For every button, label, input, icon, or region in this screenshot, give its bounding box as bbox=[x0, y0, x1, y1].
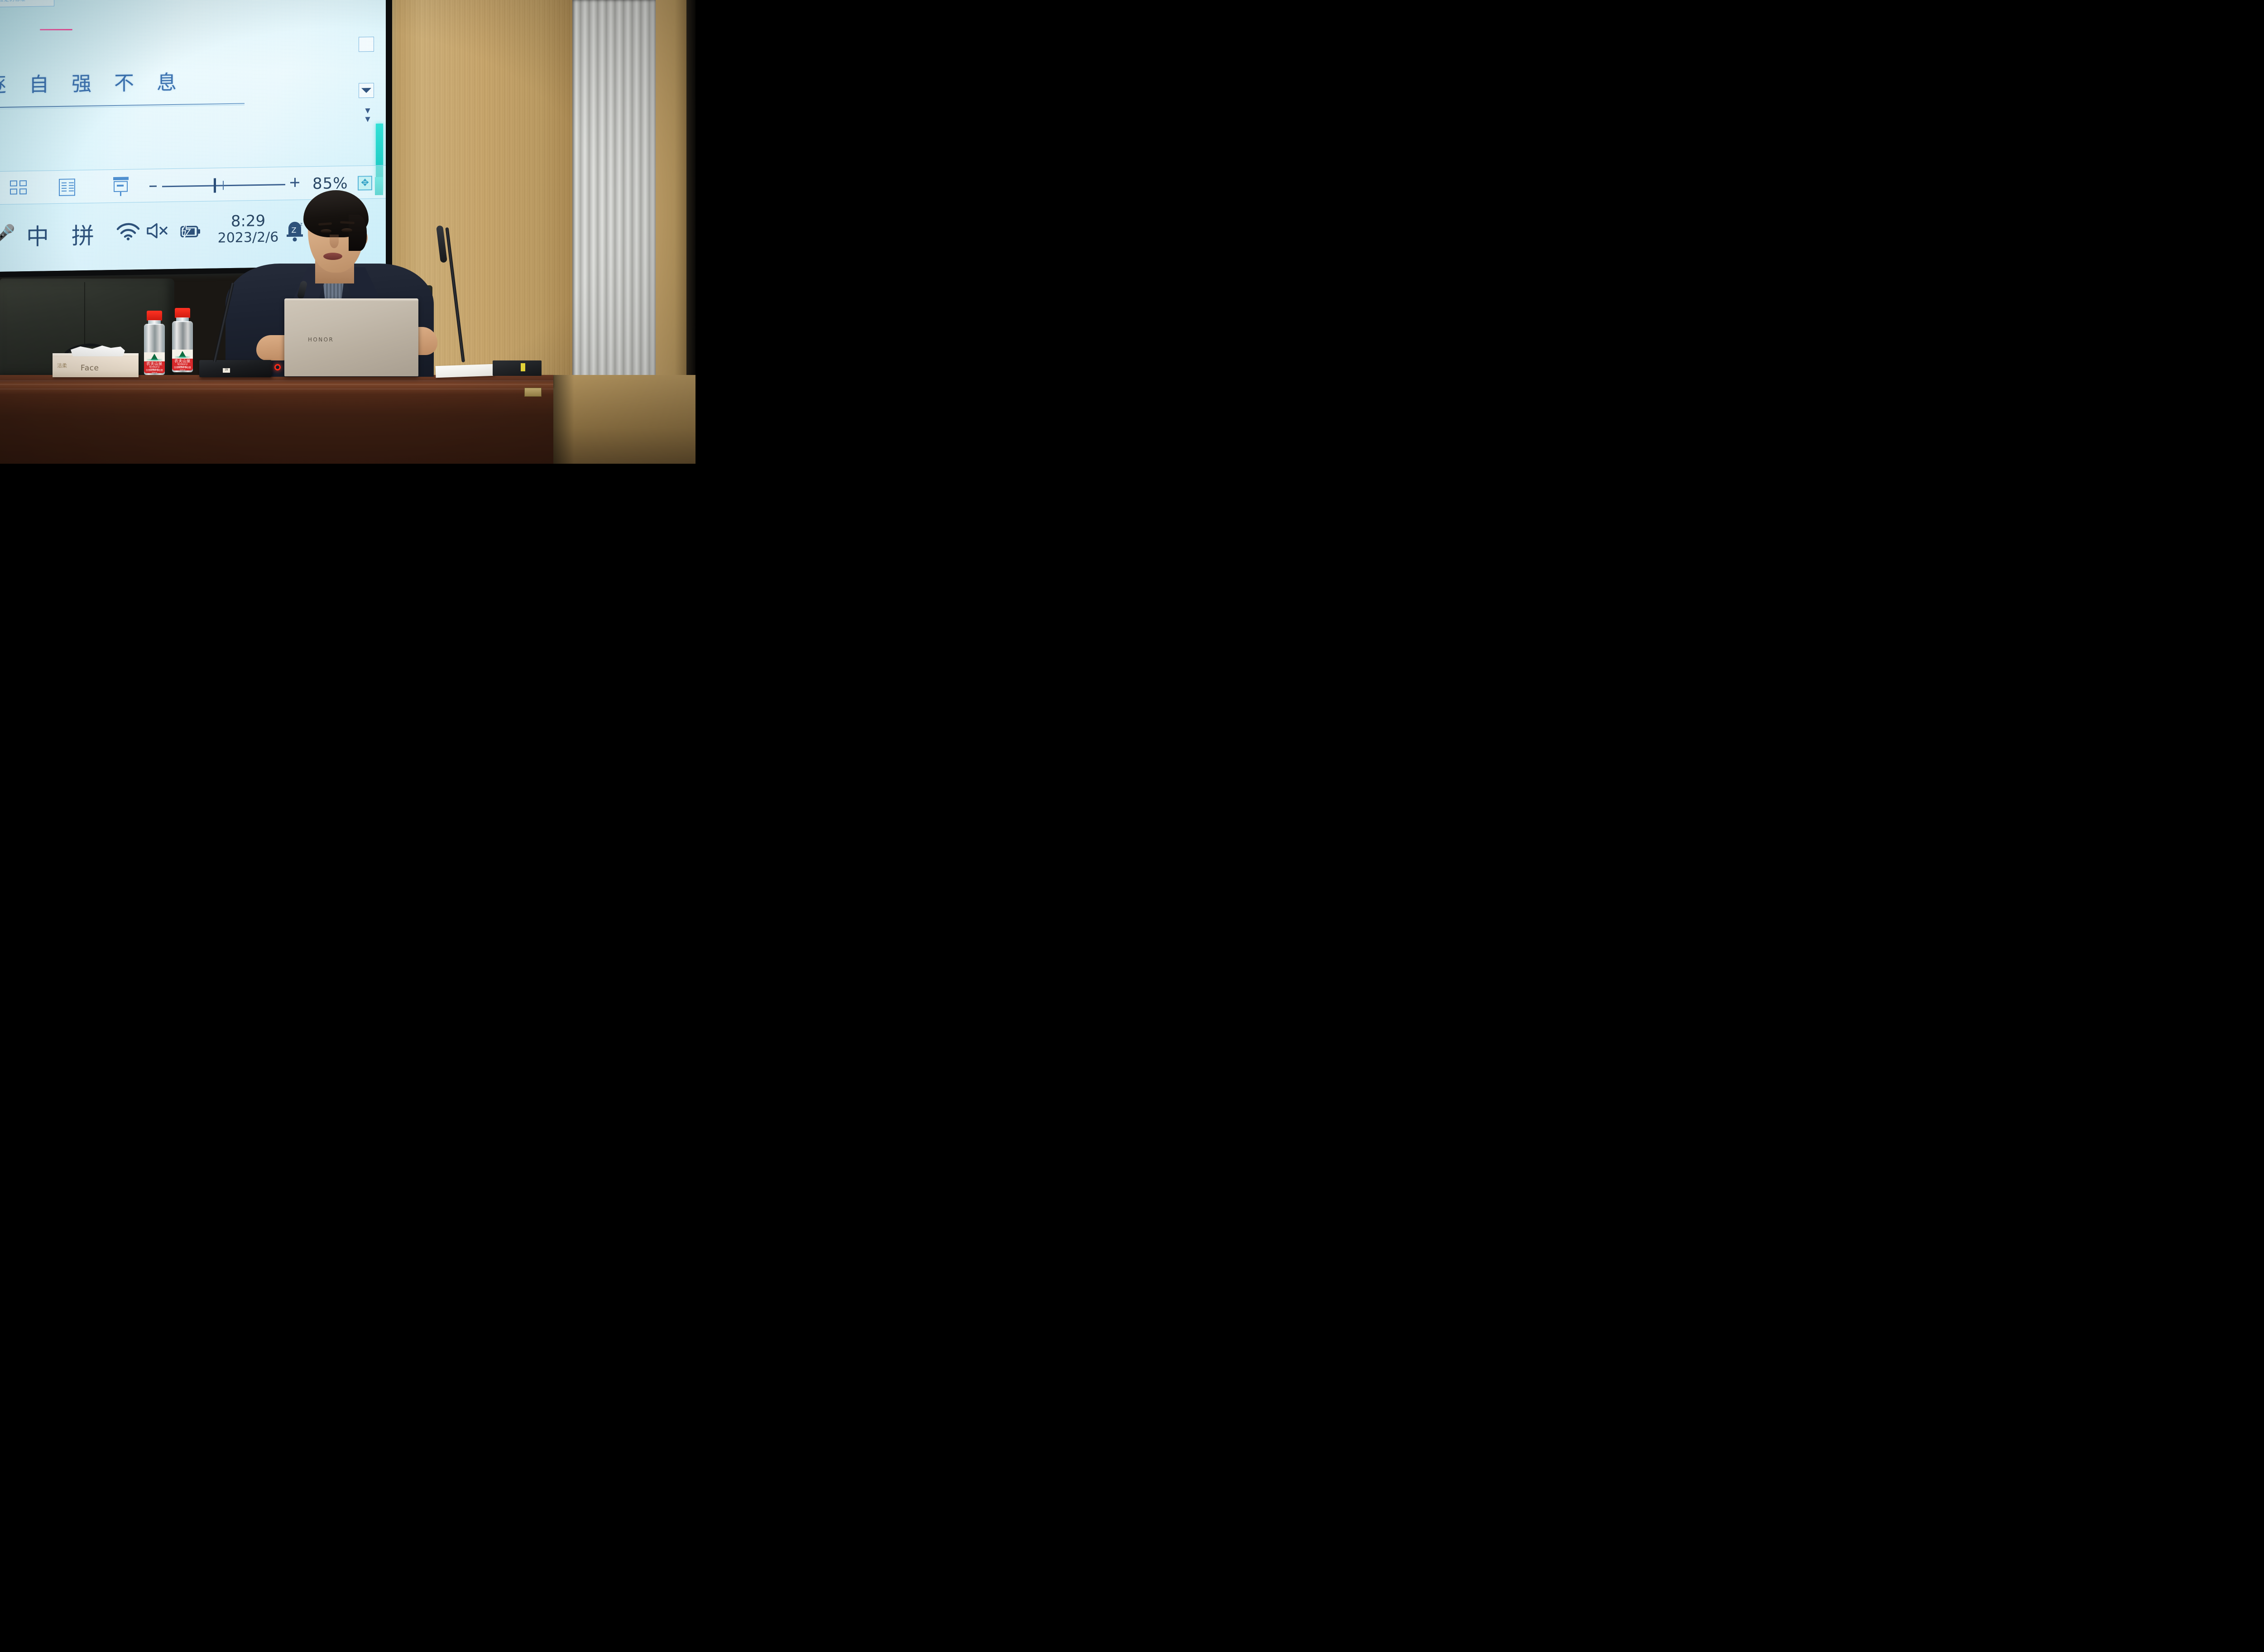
tissue-box-logo: 洁柔 bbox=[57, 362, 67, 369]
zoom-in-button[interactable] bbox=[290, 178, 299, 187]
microphone-led-indicator bbox=[274, 364, 281, 370]
bottle-brand-cn: 农夫山泉 bbox=[173, 359, 192, 363]
tissue-box-label: Face bbox=[81, 364, 99, 373]
laptop-brand-label: HONOR bbox=[308, 336, 334, 343]
screenshot-root: 法定的标准 逐 自 强 不 息 ▼▼ 85% ✥ bbox=[0, 0, 696, 464]
desk-device-unit bbox=[493, 360, 542, 376]
nongfu-wave-logo bbox=[147, 359, 162, 361]
conference-microphone-left[interactable]: 29 bbox=[199, 360, 272, 377]
laptop[interactable]: HONOR bbox=[284, 298, 418, 376]
bottle-label: 农夫山泉 NONGFU SPRING 饮用天然水 净含量380ml bbox=[172, 350, 193, 370]
bottle-cap bbox=[147, 311, 162, 321]
water-bottle-2: 农夫山泉 NONGFU SPRING 饮用天然水 净含量380ml bbox=[172, 308, 193, 372]
ime-mode-indicator[interactable]: 拼 bbox=[72, 218, 94, 251]
microphone-gooseneck-left bbox=[213, 281, 216, 362]
bottle-volume: 饮用天然水 净含量380ml bbox=[173, 366, 192, 370]
zoom-slider-tick bbox=[223, 181, 224, 190]
zoom-slider-track[interactable] bbox=[162, 184, 285, 187]
paper-documents bbox=[436, 364, 495, 378]
bottle-brand-cn: 农夫山泉 bbox=[145, 362, 164, 366]
podium-edge-shadow bbox=[553, 375, 574, 464]
battery-charging-icon[interactable] bbox=[177, 222, 202, 241]
tissue-box: 洁柔 Face bbox=[53, 355, 139, 377]
wifi-connected-icon[interactable] bbox=[116, 222, 140, 241]
microphone-icon[interactable]: 🎤 bbox=[0, 223, 15, 245]
slide-textbox-caption: 法定的标准 bbox=[0, 0, 54, 5]
speaker-hair-side bbox=[349, 215, 367, 251]
microphone-capsule-left bbox=[299, 281, 306, 300]
laptop-top-edge bbox=[284, 298, 418, 301]
microphone-capsule-right bbox=[438, 226, 445, 263]
speaker-mouth bbox=[323, 253, 342, 260]
document-scroll-nav[interactable]: ▼▼ bbox=[357, 0, 378, 185]
room-floor bbox=[553, 375, 696, 464]
web-layout-icon[interactable] bbox=[113, 177, 129, 197]
fit-to-window-icon[interactable]: ✥ bbox=[358, 176, 372, 191]
chevron-down-icon bbox=[361, 88, 371, 93]
speaker-mute-icon[interactable] bbox=[146, 222, 170, 244]
microphone-gooseneck-right bbox=[462, 226, 465, 362]
tissue-paper bbox=[71, 346, 125, 356]
page-up-button[interactable] bbox=[359, 37, 374, 52]
device-yellow-tag bbox=[521, 363, 525, 371]
page-layout-icon[interactable] bbox=[10, 180, 28, 196]
bottle-label: 农夫山泉 NONGFU SPRING 饮用天然水 净含量380ml bbox=[144, 352, 165, 373]
nongfu-wave-logo bbox=[175, 356, 190, 358]
bottle-cap bbox=[175, 308, 190, 318]
laptop-lid bbox=[284, 298, 418, 376]
read-mode-icon[interactable] bbox=[59, 178, 75, 196]
podium bbox=[0, 375, 553, 464]
microphone-base[interactable] bbox=[199, 360, 272, 377]
microphone-seat-number: 29 bbox=[223, 368, 230, 373]
bottle-volume: 饮用天然水 净含量380ml bbox=[145, 369, 164, 373]
slide-heading: 逐 自 强 不 息 bbox=[0, 65, 267, 98]
speaker-eye-left bbox=[321, 229, 331, 233]
slide-red-underline bbox=[40, 29, 72, 30]
water-bottle-1: 农夫山泉 NONGFU SPRING 饮用天然水 净含量380ml bbox=[144, 311, 165, 375]
speaker-eye-right bbox=[341, 228, 352, 232]
select-browse-object-icon[interactable]: ▼▼ bbox=[362, 106, 373, 125]
ime-language-indicator[interactable]: 中 bbox=[26, 218, 49, 251]
zoom-slider-thumb[interactable] bbox=[214, 178, 216, 193]
zoom-out-button[interactable] bbox=[149, 186, 157, 187]
slide-textbox: 法定的标准 bbox=[0, 0, 54, 7]
podium-brass-plate bbox=[524, 388, 542, 397]
page-down-button[interactable] bbox=[359, 83, 374, 98]
speaker-nose bbox=[330, 235, 339, 248]
